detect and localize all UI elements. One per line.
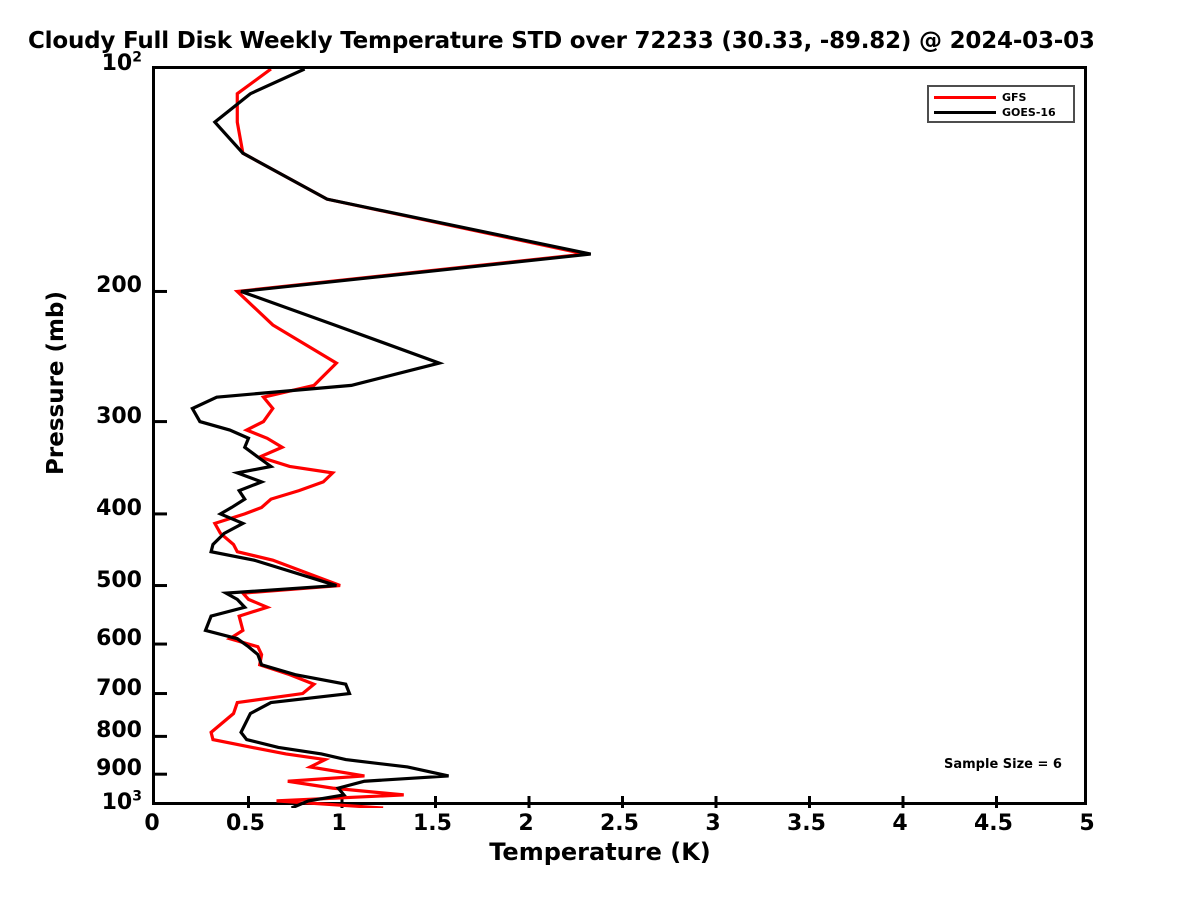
x-tick-label: 2.5	[580, 811, 660, 836]
plot-svg	[155, 69, 1090, 808]
y-tick-label: 200	[96, 273, 142, 298]
data-series-group	[192, 69, 590, 808]
x-tick-label: 0	[112, 811, 192, 836]
legend-swatch-goes16	[934, 111, 996, 114]
legend-item-gfs: GFS	[934, 90, 1068, 105]
legend-label-gfs: GFS	[1002, 92, 1026, 103]
x-tick-label: 3	[673, 811, 753, 836]
y-axis-label: Pressure (mb)	[43, 291, 69, 475]
y-tick-label: 700	[96, 676, 142, 701]
y-tick-label: 900	[96, 756, 142, 781]
x-tick-label: 3.5	[767, 811, 847, 836]
plot-area	[152, 66, 1087, 805]
y-tick-label: 600	[96, 626, 142, 651]
x-tick-label: 1	[299, 811, 379, 836]
sample-size-annotation: Sample Size = 6	[944, 757, 1062, 772]
chart-figure: Cloudy Full Disk Weekly Temperature STD …	[0, 0, 1200, 900]
legend-label-goes16: GOES-16	[1002, 107, 1056, 118]
y-tick-label: 800	[96, 718, 142, 743]
legend-item-goes16: GOES-16	[934, 105, 1068, 120]
x-tick-label: 2	[486, 811, 566, 836]
x-tick-label: 1.5	[393, 811, 473, 836]
series-line-gfs	[211, 69, 585, 808]
legend-swatch-gfs	[934, 96, 996, 99]
axis-ticks	[155, 291, 997, 808]
x-tick-label: 0.5	[206, 811, 286, 836]
x-tick-label: 4.5	[954, 811, 1034, 836]
series-line-goes-16	[192, 69, 590, 808]
chart-legend: GFS GOES-16	[927, 85, 1075, 123]
x-tick-label: 4	[860, 811, 940, 836]
x-tick-label: 5	[1047, 811, 1127, 836]
y-tick-label: 500	[96, 568, 142, 593]
y-tick-label: 400	[96, 496, 142, 521]
x-axis-label: Temperature (K)	[0, 838, 1200, 866]
y-tick-label: 102	[102, 51, 142, 76]
y-tick-label: 300	[96, 404, 142, 429]
chart-title: Cloudy Full Disk Weekly Temperature STD …	[28, 28, 1200, 54]
